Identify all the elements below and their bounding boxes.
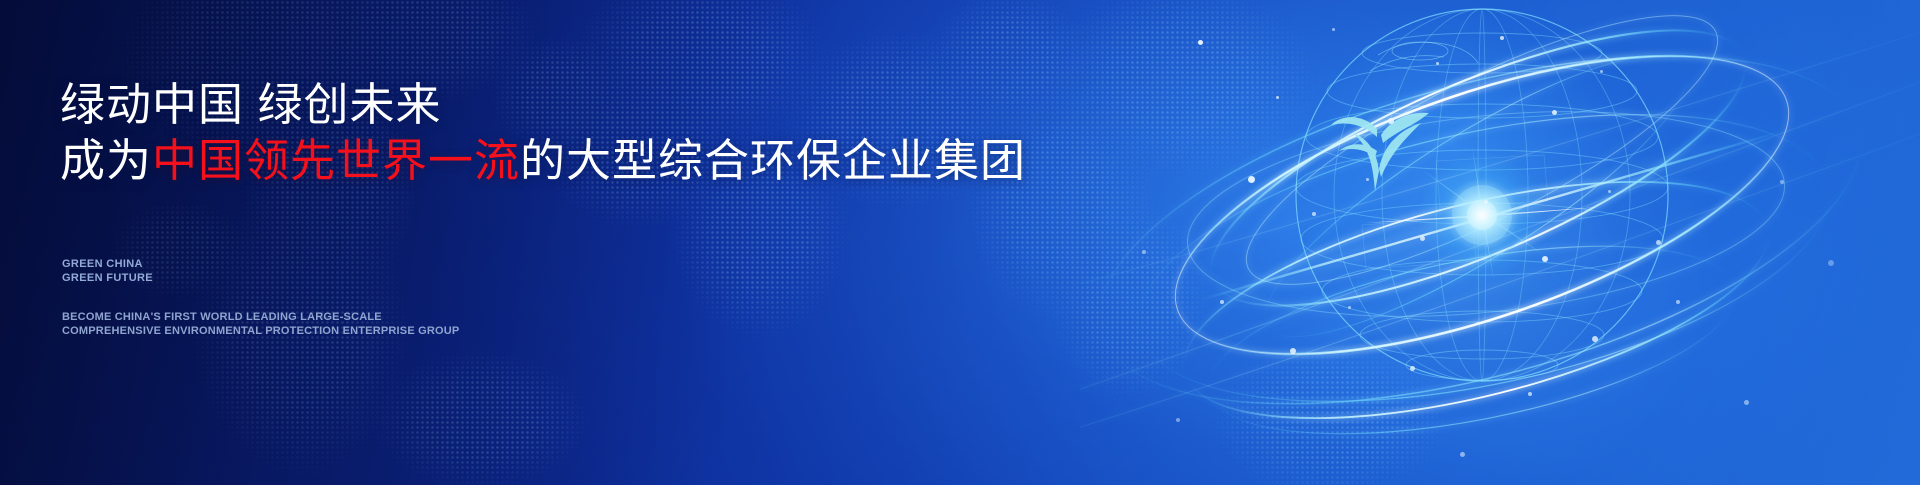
headline-line-2-suffix: 的大型综合环保企业集团 [520, 135, 1026, 186]
headline-line-1: 绿动中国 绿创未来 [60, 78, 1060, 131]
tagline-english: BECOME CHINA'S FIRST WORLD LEADING LARGE… [62, 311, 459, 338]
tagline-english-line-2: COMPREHENSIVE ENVIRONMENTAL PROTECTION E… [62, 325, 459, 339]
hero-banner: 绿动中国 绿创未来 成为中国领先世界一流的大型综合环保企业集团 GREEN CH… [0, 0, 1920, 485]
slogan-english-line-2: GREEN FUTURE [62, 272, 153, 286]
headline-line-2-prefix: 成为 [60, 135, 152, 186]
headline-line-2: 成为中国领先世界一流的大型综合环保企业集团 [60, 134, 1060, 187]
slogan-english-line-1: GREEN CHINA [62, 258, 153, 272]
slogan-english: GREEN CHINA GREEN FUTURE [62, 258, 153, 285]
tagline-english-line-1: BECOME CHINA'S FIRST WORLD LEADING LARGE… [62, 311, 459, 325]
headline-block: 绿动中国 绿创未来 成为中国领先世界一流的大型综合环保企业集团 [60, 78, 1060, 187]
banner-copy: 绿动中国 绿创未来 成为中国领先世界一流的大型综合环保企业集团 GREEN CH… [60, 0, 1070, 485]
headline-highlight: 中国领先世界一流 [152, 135, 520, 186]
